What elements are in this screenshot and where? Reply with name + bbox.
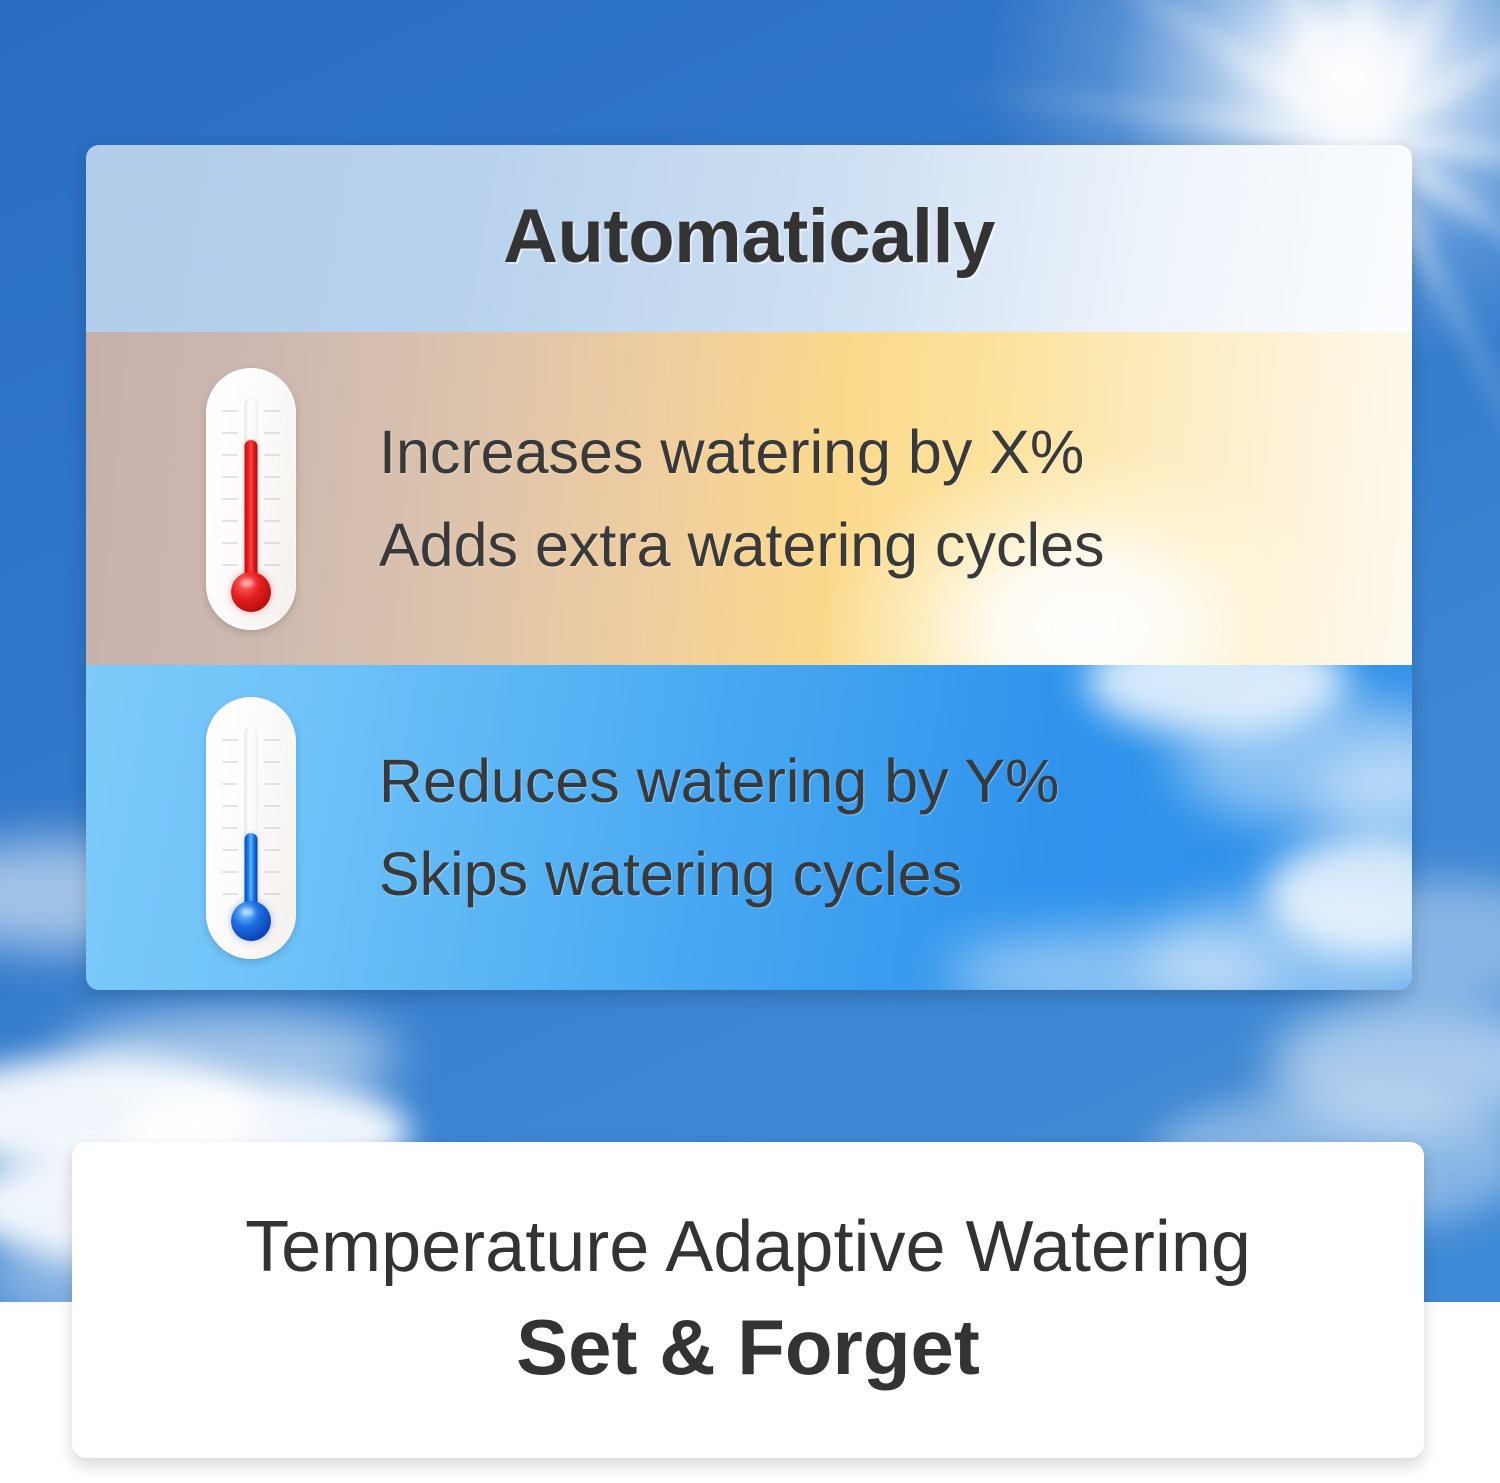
- cloud-shape: [1176, 695, 1412, 825]
- promo-graphic: Automatically: [0, 0, 1500, 1483]
- thermometer-bulb-hot: [231, 572, 271, 612]
- hot-thermometer-slot: [201, 368, 301, 630]
- cloud-shape: [946, 930, 1276, 990]
- cloud-shape: [1316, 750, 1412, 840]
- caption-card: Temperature Adaptive Watering Set & Forg…: [72, 1142, 1424, 1458]
- hot-weather-row: Increases watering by X% Adds extra wate…: [86, 332, 1412, 665]
- thermometer-bulb-cold: [231, 901, 271, 941]
- hot-line-2: Adds extra watering cycles: [379, 499, 1105, 592]
- panel-title: Automatically: [503, 193, 995, 280]
- panel-header-band: Automatically: [86, 145, 1412, 332]
- feature-panel: Automatically: [86, 145, 1412, 990]
- caption-headline: Temperature Adaptive Watering: [245, 1207, 1251, 1288]
- cold-thermometer-slot: [201, 697, 301, 959]
- cloud-shape: [1146, 895, 1412, 990]
- cloud-shape: [60, 1012, 400, 1100]
- thermometer-hot-icon: [206, 368, 296, 630]
- cold-line-2: Skips watering cycles: [379, 828, 1059, 921]
- cold-weather-row: Reduces watering by Y% Skips watering cy…: [86, 665, 1412, 990]
- hot-line-1: Increases watering by X%: [379, 406, 1105, 499]
- caption-tagline: Set & Forget: [516, 1301, 980, 1393]
- cloud-shape: [1086, 665, 1346, 735]
- cold-line-1: Reduces watering by Y%: [379, 735, 1059, 828]
- thermometer-mercury-hot: [245, 440, 258, 590]
- thermometer-cold-icon: [206, 697, 296, 959]
- hot-weather-text: Increases watering by X% Adds extra wate…: [379, 406, 1105, 591]
- cloud-shape: [1266, 835, 1412, 955]
- cold-weather-text: Reduces watering by Y% Skips watering cy…: [379, 735, 1059, 920]
